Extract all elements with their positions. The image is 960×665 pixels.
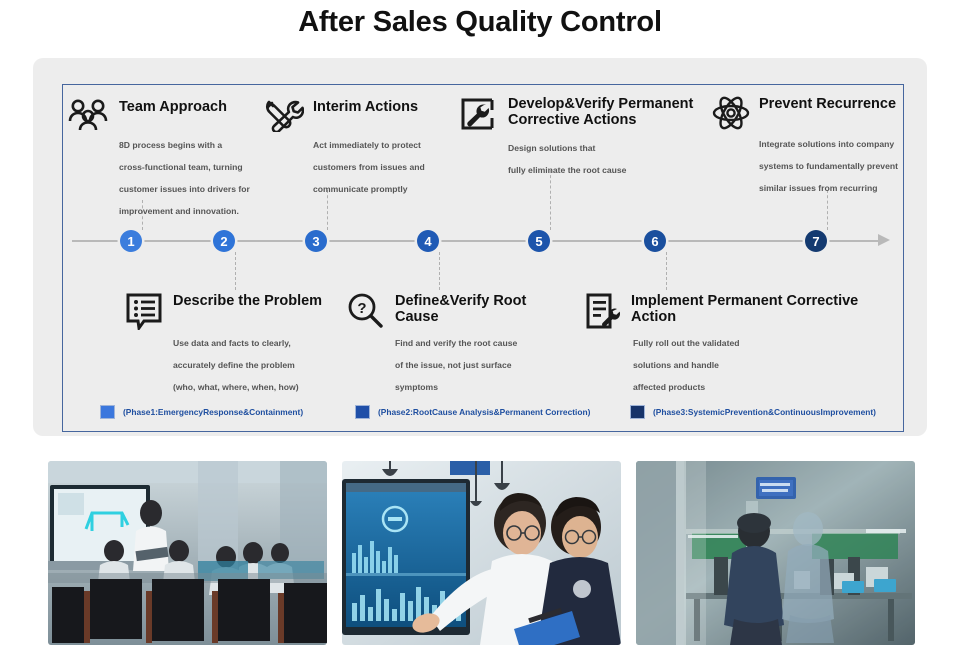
- photo-strip: [48, 461, 921, 645]
- step-title: Define&Verify Root Cause: [395, 292, 566, 325]
- atom-icon: [712, 95, 750, 136]
- timeline-node-4[interactable]: 4: [417, 230, 439, 252]
- step-define-verify-root-cause: ? Define&Verify Root Cause Find and veri…: [346, 292, 566, 399]
- step-implement-capa: Implement Permanent Corrective Action Fu…: [584, 292, 894, 399]
- timeline-axis: [72, 240, 884, 242]
- step-develop-verify-capa: Develop&Verify Permanent Corrective Acti…: [459, 95, 704, 182]
- step-description: Act immediately to protect customers fro…: [313, 135, 454, 201]
- timeline-arrow-icon: [878, 234, 890, 246]
- step-description: Fully roll out the validated solutions a…: [633, 333, 894, 399]
- step-title: Describe the Problem: [173, 292, 322, 309]
- step-prevent-recurrence: Prevent Recurrence Integrate solutions i…: [712, 95, 912, 200]
- legend-label: (Phase2:RootCause Analysis&Permanent Cor…: [378, 407, 590, 417]
- checklist-bubble-icon: [124, 292, 164, 335]
- step-description: 8D process begins with a cross-functiona…: [119, 135, 278, 223]
- connector-6: [666, 252, 667, 290]
- legend-label: (Phase3:SystemicPrevention&ContinuousImp…: [653, 407, 876, 417]
- team-icon: [68, 98, 110, 137]
- photo-dashboard-review: [342, 461, 621, 645]
- step-title: Prevent Recurrence: [759, 95, 896, 112]
- step-team-approach: Team Approach 8D process begins with a c…: [68, 98, 278, 223]
- photo-meeting-room: [48, 461, 327, 645]
- tools-icon: [264, 98, 304, 137]
- legend-swatch-phase1: [100, 405, 115, 419]
- svg-text:?: ?: [357, 300, 366, 317]
- legend-swatch-phase2: [355, 405, 370, 419]
- step-interim-actions: Interim Actions Act immediately to prote…: [264, 98, 454, 201]
- step-title: Team Approach: [119, 98, 227, 115]
- phase-legend: (Phase1:EmergencyResponse&Containment) (…: [100, 405, 900, 425]
- infographic-page: After Sales Quality Control 1 2 3 4 5 6 …: [0, 0, 960, 665]
- step-title: Implement Permanent Corrective Action: [631, 292, 894, 325]
- document-wrench-icon: [584, 292, 622, 335]
- legend-item-phase1[interactable]: (Phase1:EmergencyResponse&Containment): [100, 405, 303, 419]
- timeline-node-7[interactable]: 7: [805, 230, 827, 252]
- timeline-node-1[interactable]: 1: [120, 230, 142, 252]
- page-title: After Sales Quality Control: [0, 6, 960, 39]
- legend-item-phase3[interactable]: (Phase3:SystemicPrevention&ContinuousImp…: [630, 405, 876, 419]
- step-title: Interim Actions: [313, 98, 418, 115]
- step-description: Use data and facts to clearly, accuratel…: [173, 333, 324, 399]
- step-describe-problem: Describe the Problem Use data and facts …: [124, 292, 324, 399]
- timeline-node-2[interactable]: 2: [213, 230, 235, 252]
- legend-swatch-phase3: [630, 405, 645, 419]
- step-description: Find and verify the root cause of the is…: [395, 333, 566, 399]
- search-question-icon: ?: [346, 292, 386, 335]
- connector-2: [235, 252, 236, 290]
- legend-item-phase2[interactable]: (Phase2:RootCause Analysis&Permanent Cor…: [355, 405, 590, 419]
- legend-label: (Phase1:EmergencyResponse&Containment): [123, 407, 303, 417]
- step-description: Design solutions that fully eliminate th…: [508, 138, 704, 182]
- timeline-node-6[interactable]: 6: [644, 230, 666, 252]
- photo-factory-test-bench: [636, 461, 915, 645]
- connector-4: [439, 252, 440, 290]
- wrench-frame-icon: [459, 95, 499, 138]
- timeline-node-3[interactable]: 3: [305, 230, 327, 252]
- step-description: Integrate solutions into company systems…: [759, 134, 912, 200]
- timeline-node-5[interactable]: 5: [528, 230, 550, 252]
- step-title: Develop&Verify Permanent Corrective Acti…: [508, 95, 693, 128]
